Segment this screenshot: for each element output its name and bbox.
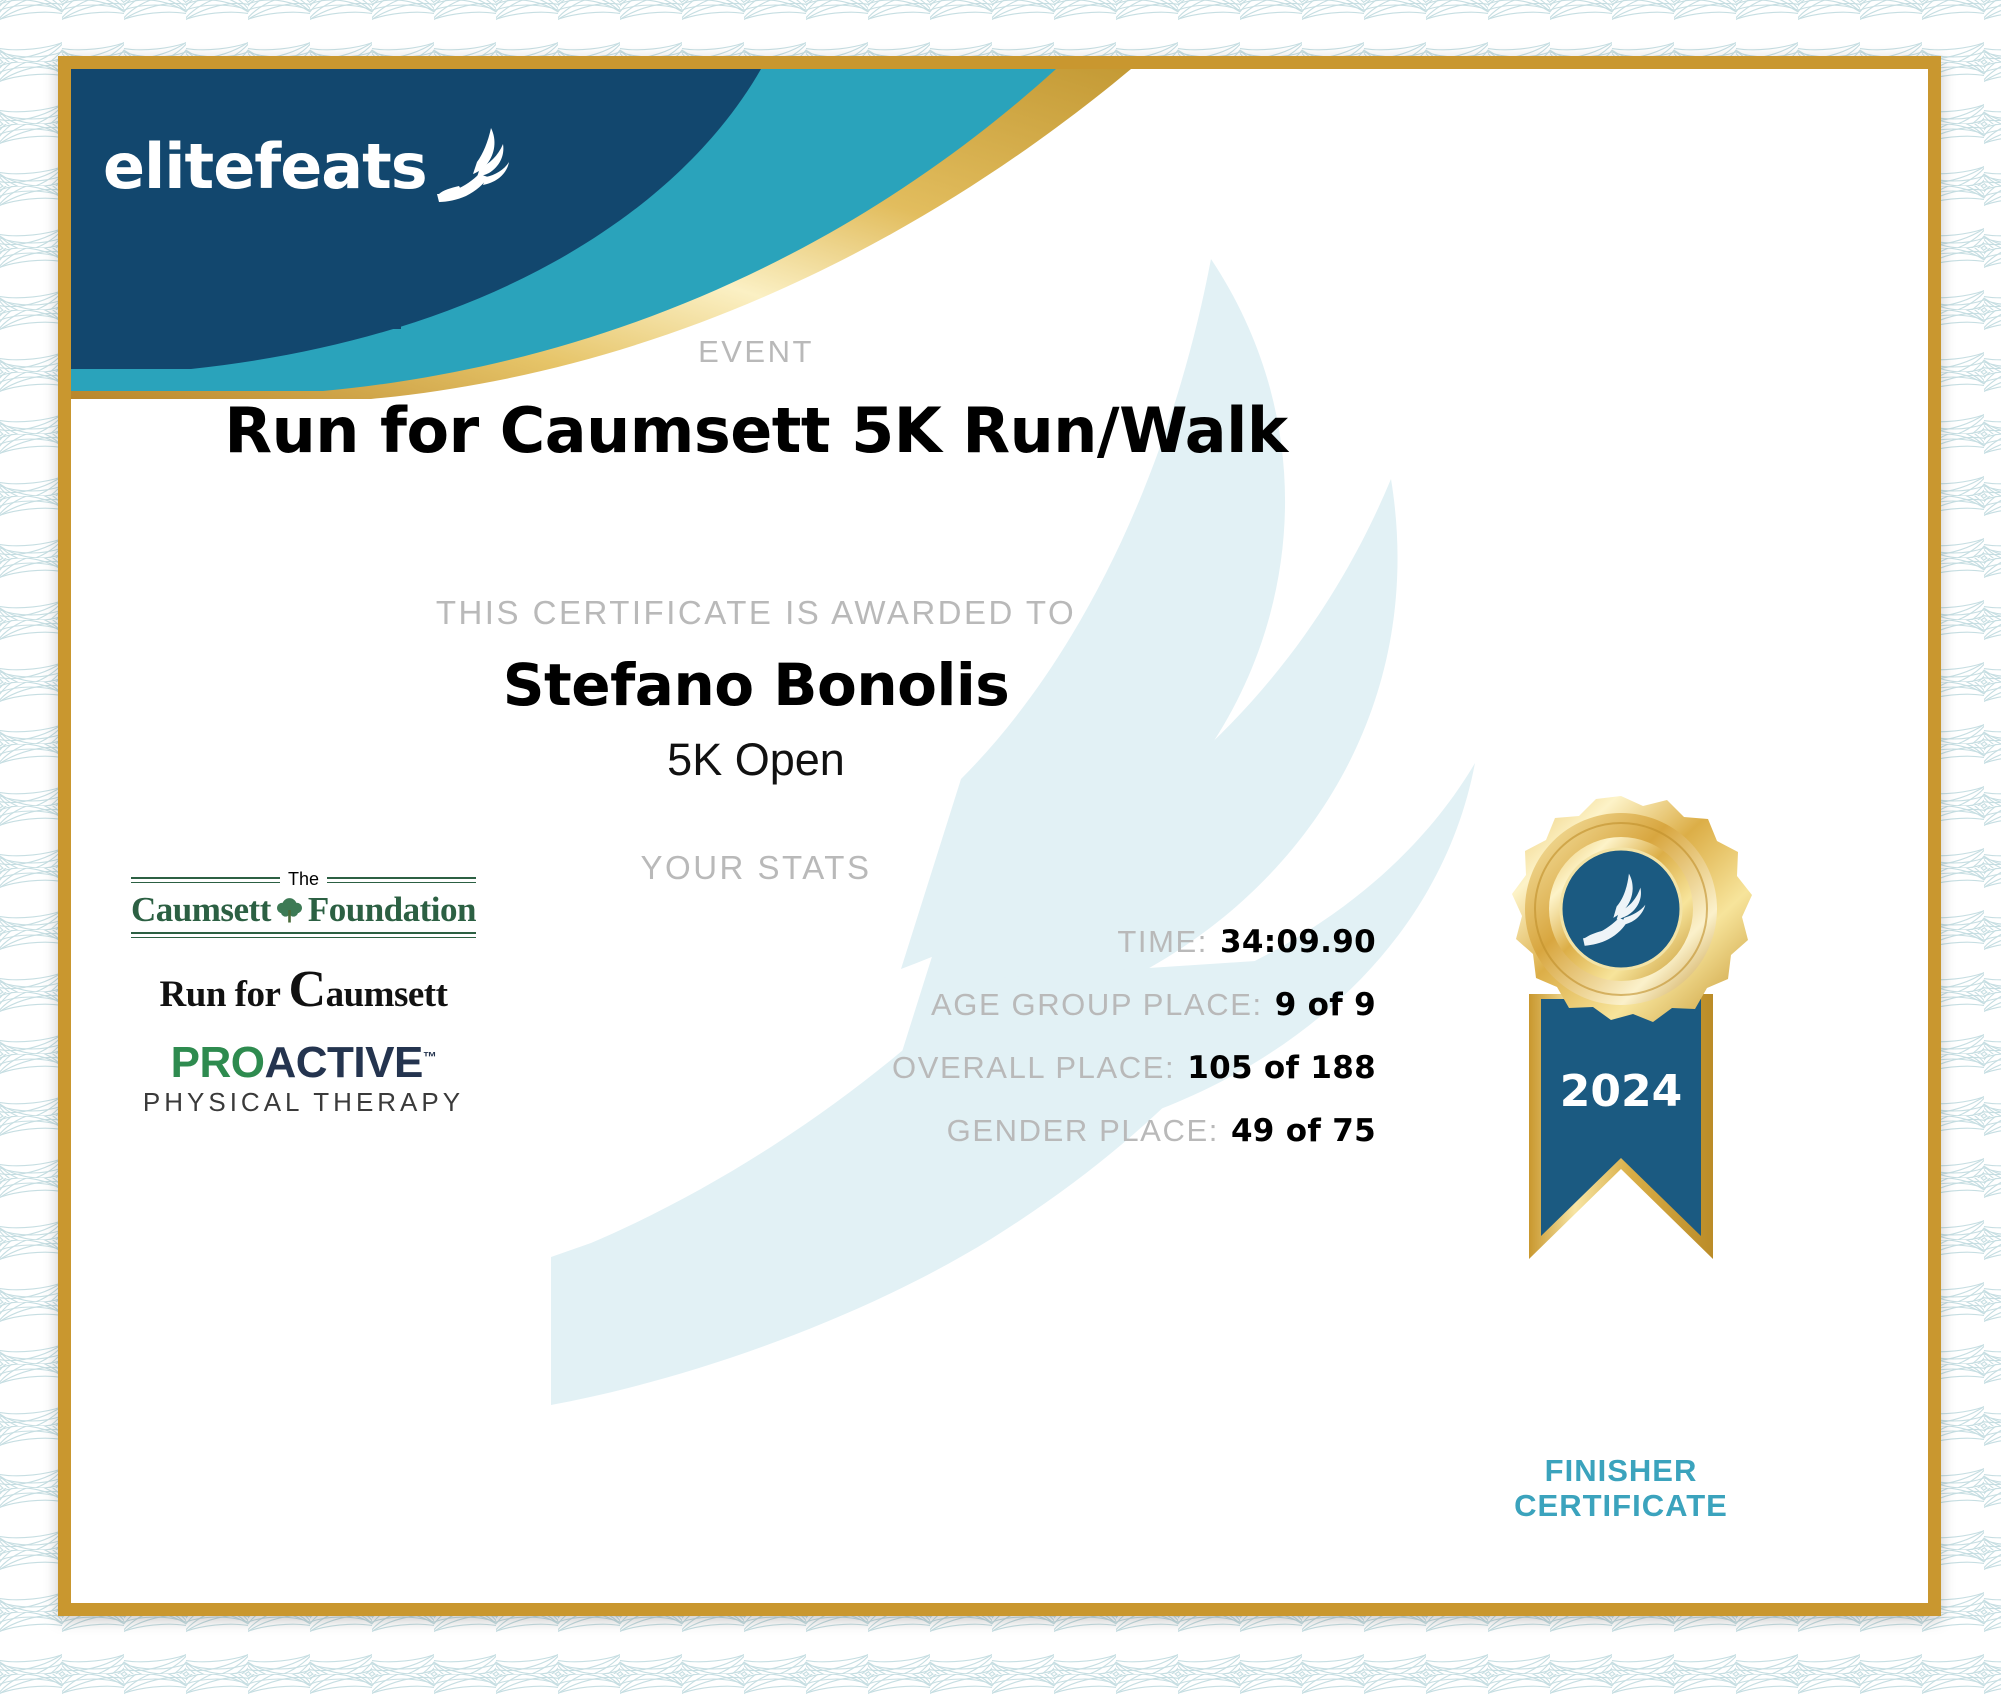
event-title: Run for Caumsett 5K Run/Walk	[71, 394, 1441, 467]
stat-value: 105 of 188	[1187, 1050, 1376, 1086]
trademark-symbol: ™	[423, 1048, 437, 1064]
stat-value: 49 of 75	[1231, 1113, 1376, 1149]
certificate-body: elitefeats EVENT Run for Caumsett 5K Run…	[71, 69, 1928, 1603]
proactive-active: ACTIVE	[265, 1038, 423, 1087]
awarded-to-label: THIS CERTIFICATE IS AWARDED TO	[71, 594, 1441, 632]
tree-icon	[275, 890, 304, 930]
medal-rosette	[1512, 796, 1752, 1022]
recipient-name: Stefano Bonolis	[71, 651, 1441, 719]
sponsor-caumsett-foundation: The Caumsett Foundation	[131, 869, 476, 938]
caumsett-word: Caumsett	[131, 890, 271, 930]
stat-key: TIME:	[1117, 924, 1208, 960]
caumsett-the-label: The	[288, 869, 319, 890]
sponsor-logos: The Caumsett Foundation Run for Caumsett	[131, 869, 476, 1140]
stat-value: 34:09.90	[1220, 924, 1376, 960]
foundation-word: Foundation	[308, 890, 476, 930]
proactive-subtitle: PHYSICAL THERAPY	[131, 1087, 476, 1118]
run-for-prefix: Run for	[160, 974, 289, 1015]
stat-key: OVERALL PLACE:	[892, 1050, 1175, 1086]
event-label: EVENT	[71, 334, 1441, 370]
caumsett-suffix: aumsett	[326, 974, 448, 1015]
sponsor-proactive-physical-therapy: PROACTIVE™ PHYSICAL THERAPY	[131, 1041, 476, 1118]
stat-value: 9 of 9	[1275, 987, 1376, 1023]
ribbon-fill	[1541, 999, 1701, 1236]
finisher-medal-badge: 2024	[1451, 784, 1791, 1344]
stat-key: GENDER PLACE:	[947, 1113, 1219, 1149]
stat-key: AGE GROUP PLACE:	[931, 987, 1263, 1023]
caumsett-big-c: C	[289, 961, 326, 1018]
sponsor-run-for-caumsett: Run for Caumsett	[131, 960, 476, 1019]
proactive-pro: PRO	[171, 1038, 265, 1087]
medal-year: 2024	[1560, 1066, 1682, 1117]
division-label: 5K Open	[71, 734, 1441, 786]
